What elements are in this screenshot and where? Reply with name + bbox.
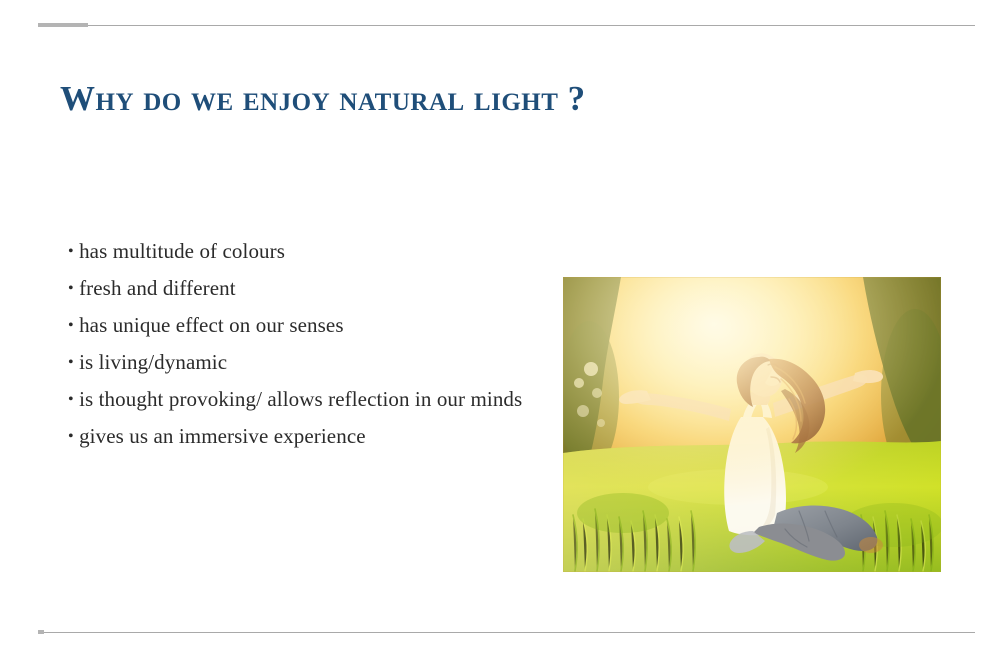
list-item: • is thought provoking/ allows reflectio… (68, 381, 538, 418)
page-title: Why do we enjoy natural light ? (60, 79, 586, 119)
bullet-list: • has multitude of colours • fresh and d… (68, 233, 538, 455)
list-item: • is living/dynamic (68, 344, 538, 381)
list-item: • has unique effect on our senses (68, 307, 538, 344)
sunlight-photo (563, 277, 941, 572)
bullet-marker-icon: • (68, 391, 74, 408)
list-item-label: fresh and different (79, 276, 236, 300)
list-item-label: gives us an immersive experience (79, 424, 366, 448)
list-item-label: has unique effect on our senses (79, 313, 344, 337)
bottom-divider-rule (38, 632, 975, 633)
list-item-label: is thought provoking/ allows reflection … (79, 387, 522, 411)
bullet-marker-icon: • (68, 354, 74, 371)
bullet-marker-icon: • (68, 428, 74, 445)
top-divider-rule (38, 25, 975, 26)
list-item-label: is living/dynamic (79, 350, 227, 374)
bullet-marker-icon: • (68, 243, 74, 260)
list-item: • fresh and different (68, 270, 538, 307)
bullet-marker-icon: • (68, 317, 74, 334)
bullet-marker-icon: • (68, 280, 74, 297)
list-item: • gives us an immersive experience (68, 418, 538, 455)
list-item: • has multitude of colours (68, 233, 538, 270)
slide-canvas: Why do we enjoy natural light ? • has mu… (0, 0, 1000, 667)
list-item-label: has multitude of colours (79, 239, 285, 263)
